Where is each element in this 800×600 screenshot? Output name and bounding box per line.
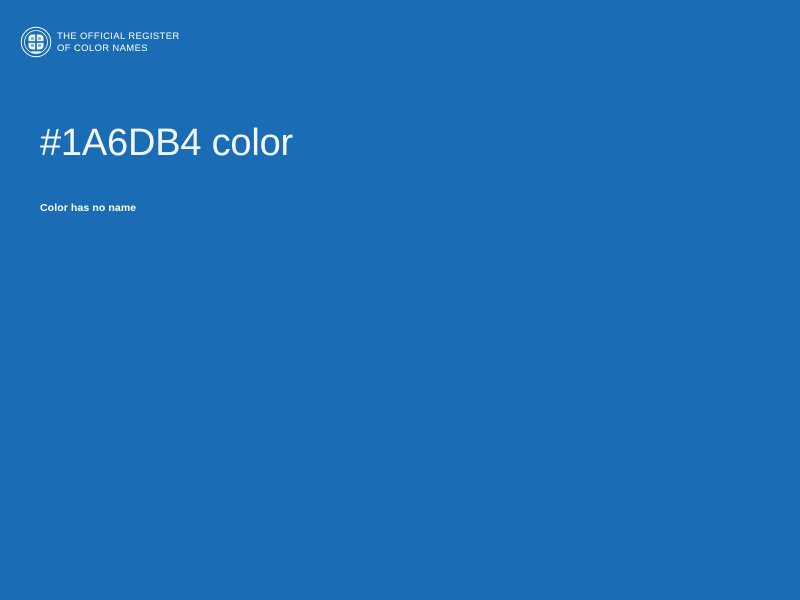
color-page: THE OFFICIAL REGISTER OF COLOR NAMES #1A… <box>0 0 800 600</box>
color-name-status: Color has no name <box>40 166 760 215</box>
color-info-block: #1A6DB4 color Color has no name <box>40 120 760 215</box>
register-seal-icon <box>20 26 52 58</box>
site-logo[interactable]: THE OFFICIAL REGISTER OF COLOR NAMES <box>20 26 180 58</box>
brand-line-2: OF COLOR NAMES <box>57 43 180 55</box>
brand-line-1: THE OFFICIAL REGISTER <box>57 31 180 43</box>
brand-wordmark: THE OFFICIAL REGISTER OF COLOR NAMES <box>57 30 180 54</box>
page-title: #1A6DB4 color <box>40 120 760 166</box>
